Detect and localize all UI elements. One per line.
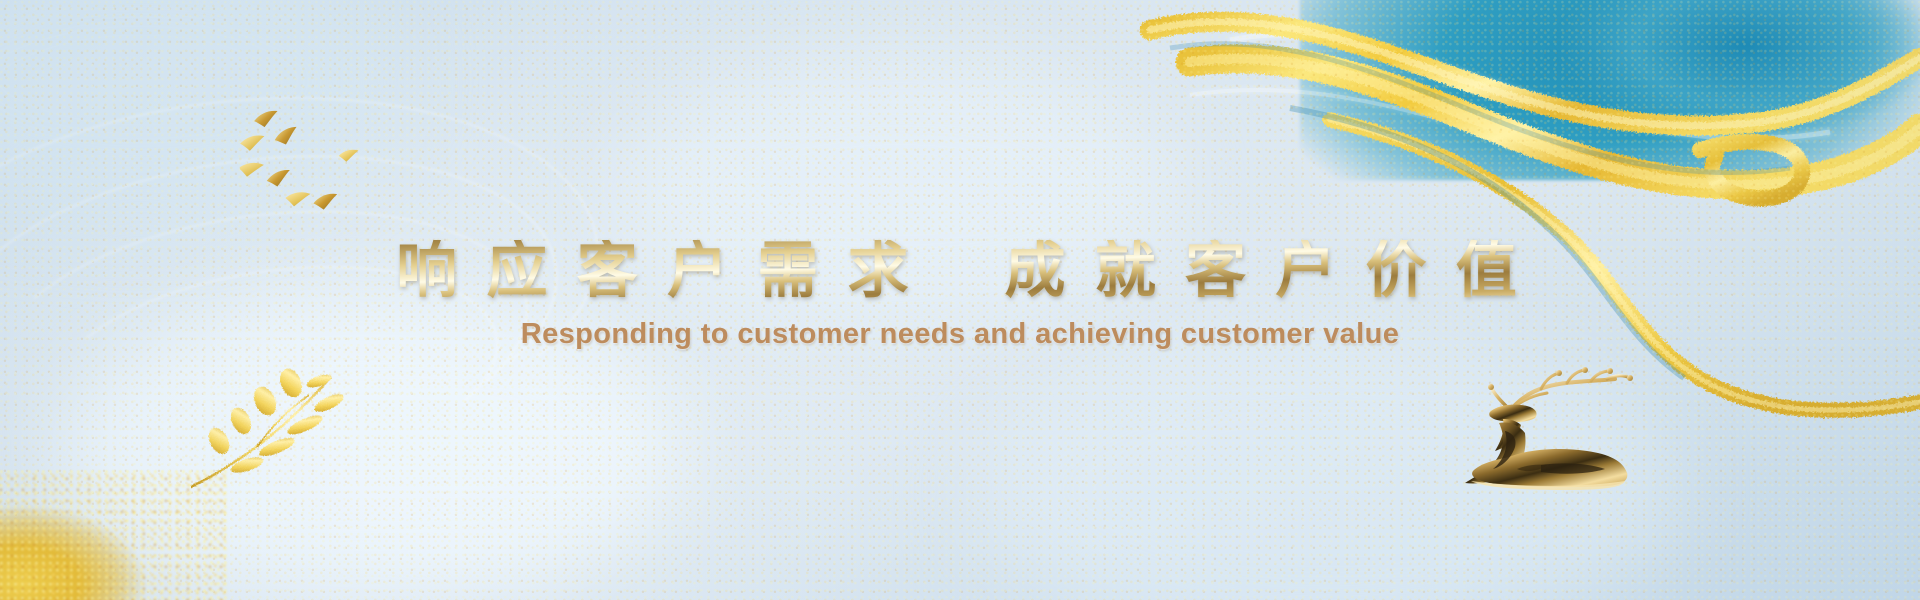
bird-icon — [240, 135, 266, 152]
bird-icon — [240, 162, 264, 178]
bird-icon — [273, 126, 301, 148]
bird-icon — [253, 110, 280, 129]
golden-deer-sculpture — [1455, 365, 1640, 495]
flying-birds-flock — [240, 100, 370, 220]
bird-icon — [312, 193, 339, 212]
hero-banner: 响 应 客 户 需 求 成 就 客 户 价 值 Responding to cu… — [0, 0, 1920, 600]
banner-text-block: 响 应 客 户 需 求 成 就 客 户 价 值 Responding to cu… — [0, 240, 1920, 351]
bird-icon — [338, 149, 359, 162]
page-subtitle: Responding to customer needs and achievi… — [0, 318, 1920, 351]
gold-leaf-sprig — [185, 355, 355, 495]
bird-icon — [265, 169, 293, 189]
page-title: 响 应 客 户 需 求 成 就 客 户 价 值 — [0, 240, 1920, 305]
bird-icon — [285, 192, 310, 207]
